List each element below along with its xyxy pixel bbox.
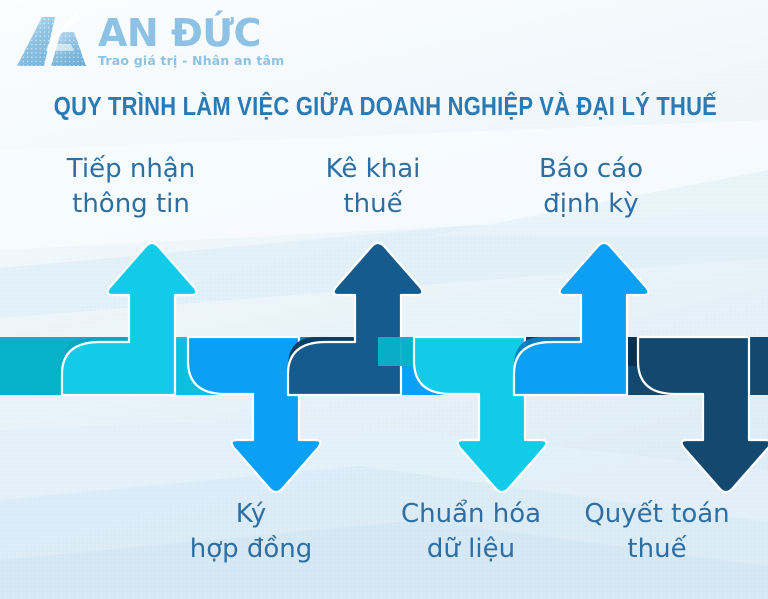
step-label-3: Kê khai thuế xyxy=(250,152,496,221)
brand-name: AN ĐỨC xyxy=(98,14,284,52)
an-duc-mountain-a-logo-icon xyxy=(14,10,92,72)
brand-tagline: Trao giá trị - Nhân an tâm xyxy=(98,55,284,68)
step-label-1: Tiếp nhận thông tin xyxy=(8,152,254,221)
infographic-canvas: AN ĐỨC Trao giá trị - Nhân an tâm QUY TR… xyxy=(0,0,768,599)
brand-logo[interactable]: AN ĐỨC Trao giá trị - Nhân an tâm xyxy=(14,10,284,72)
step-label-5: Báo cáo định kỳ xyxy=(468,152,714,221)
step-label-6: Quyết toán thuế xyxy=(546,497,768,566)
step-label-2: Ký hợp đồng xyxy=(128,497,374,566)
step-labels: Tiếp nhận thông tin Kê khai thuế Báo cáo… xyxy=(0,0,768,599)
